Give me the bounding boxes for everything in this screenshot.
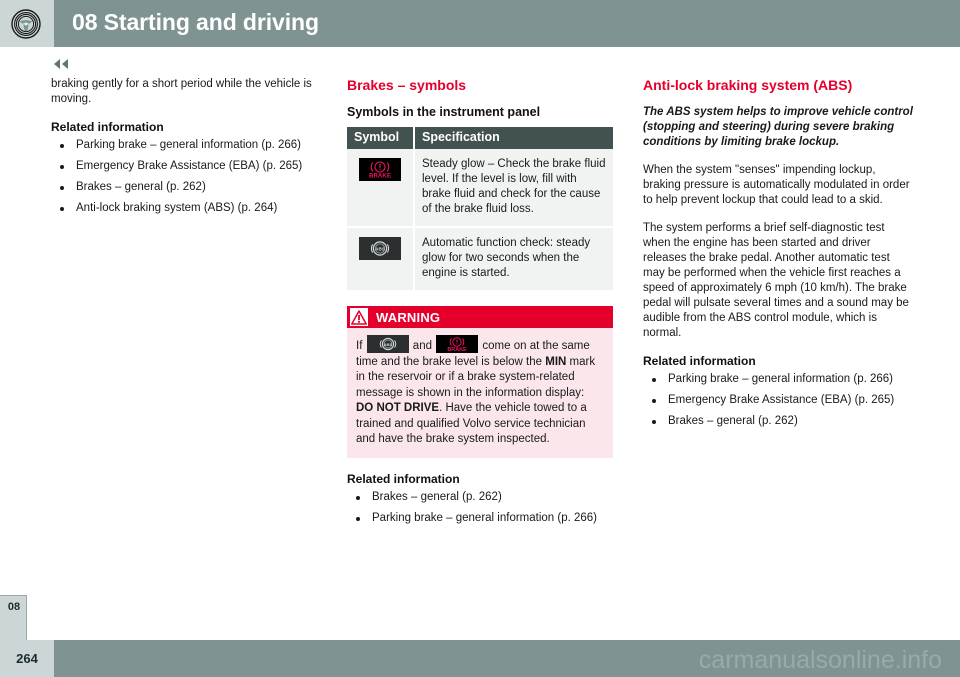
abs-warning-lamp-icon: ABS [367,335,409,353]
warning-text-part-1: If [356,340,362,352]
related-information-heading-left: Related information [51,120,321,135]
abs-lead-paragraph: The ABS system helps to improve vehicle … [643,105,913,150]
warning-emphasis-min: MIN [545,356,566,368]
brake-warning-lamp-icon: BRAKE [436,335,478,353]
svg-text:BRAKE: BRAKE [448,347,468,353]
section-heading-abs: Anti-lock braking system (ABS) [643,77,913,93]
middle-column: Brakes – symbols Symbols in the instrume… [347,77,617,526]
page-content: braking gently for a short period while … [0,47,960,631]
continued-paragraph: braking gently for a short period while … [51,77,321,107]
abs-paragraph-1: When the system "senses" impending locku… [643,163,913,208]
list-item[interactable]: Parking brake – general information (p. … [51,138,321,153]
table-header-row: Symbol Specification [347,127,613,149]
table-row: BRAKE Steady glow – Check the brake flui… [347,149,613,227]
footer-bar: carmanualsonline.info [54,640,960,677]
page-footer: 264 carmanualsonline.info [0,640,960,677]
warning-triangle-icon [350,308,368,326]
warning-text-part-2: and [413,340,432,352]
warning-emphasis-do-not-drive: DO NOT DRIVE [356,402,439,414]
list-item[interactable]: Emergency Brake Assistance (EBA) (p. 265… [643,393,913,408]
page-header: 08 Starting and driving [0,0,960,47]
list-item[interactable]: Anti-lock braking system (ABS) (p. 264) [51,201,321,216]
related-information-heading-middle: Related information [347,472,617,487]
abs-warning-lamp-icon: ABS [359,237,401,260]
brake-warning-lamp-icon: BRAKE [359,158,401,181]
table-row: ABS Automatic function check: steady glo… [347,227,613,291]
chapter-side-tab-label: 08 [0,601,28,613]
list-item[interactable]: Brakes – general (p. 262) [347,490,617,505]
steering-wheel-icon [11,9,41,39]
subsection-heading-instrument-panel: Symbols in the instrument panel [347,105,617,120]
left-column: braking gently for a short period while … [51,77,321,216]
list-item[interactable]: Parking brake – general information (p. … [347,511,617,526]
double-left-arrow-icon [51,57,71,71]
warning-header: WARNING [347,306,613,328]
page-title: 08 Starting and driving [72,9,319,36]
specification-cell: Steady glow – Check the brake fluid leve… [414,149,613,227]
related-information-list-right: Parking brake – general information (p. … [643,372,913,429]
symbol-cell: ABS [347,227,414,291]
section-heading-brakes-symbols: Brakes – symbols [347,77,617,93]
warning-label: WARNING [376,310,440,325]
specification-cell: Automatic function check: steady glow fo… [414,227,613,291]
list-item[interactable]: Emergency Brake Assistance (EBA) (p. 265… [51,159,321,174]
list-item[interactable]: Brakes – general (p. 262) [643,414,913,429]
page-number-box: 264 [0,640,54,677]
list-item[interactable]: Parking brake – general information (p. … [643,372,913,387]
svg-text:BRAKE: BRAKE [369,173,391,180]
symbols-table: Symbol Specification [347,127,613,292]
related-information-heading-right: Related information [643,354,913,369]
warning-box: WARNING If ABS and [347,306,613,458]
related-information-list-middle: Brakes – general (p. 262) Parking brake … [347,490,617,526]
column-header-symbol: Symbol [347,127,414,149]
warning-text: If ABS and [347,328,613,458]
right-column: Anti-lock braking system (ABS) The ABS s… [643,77,913,429]
symbol-cell: BRAKE [347,149,414,227]
svg-text:ABS: ABS [375,247,385,252]
svg-text:ABS: ABS [383,342,392,347]
related-information-list-left: Parking brake – general information (p. … [51,138,321,216]
page-number: 264 [0,651,54,666]
abs-paragraph-2: The system performs a brief self-diagnos… [643,221,913,341]
watermark: carmanualsonline.info [699,646,942,675]
column-header-specification: Specification [414,127,613,149]
list-item[interactable]: Brakes – general (p. 262) [51,180,321,195]
